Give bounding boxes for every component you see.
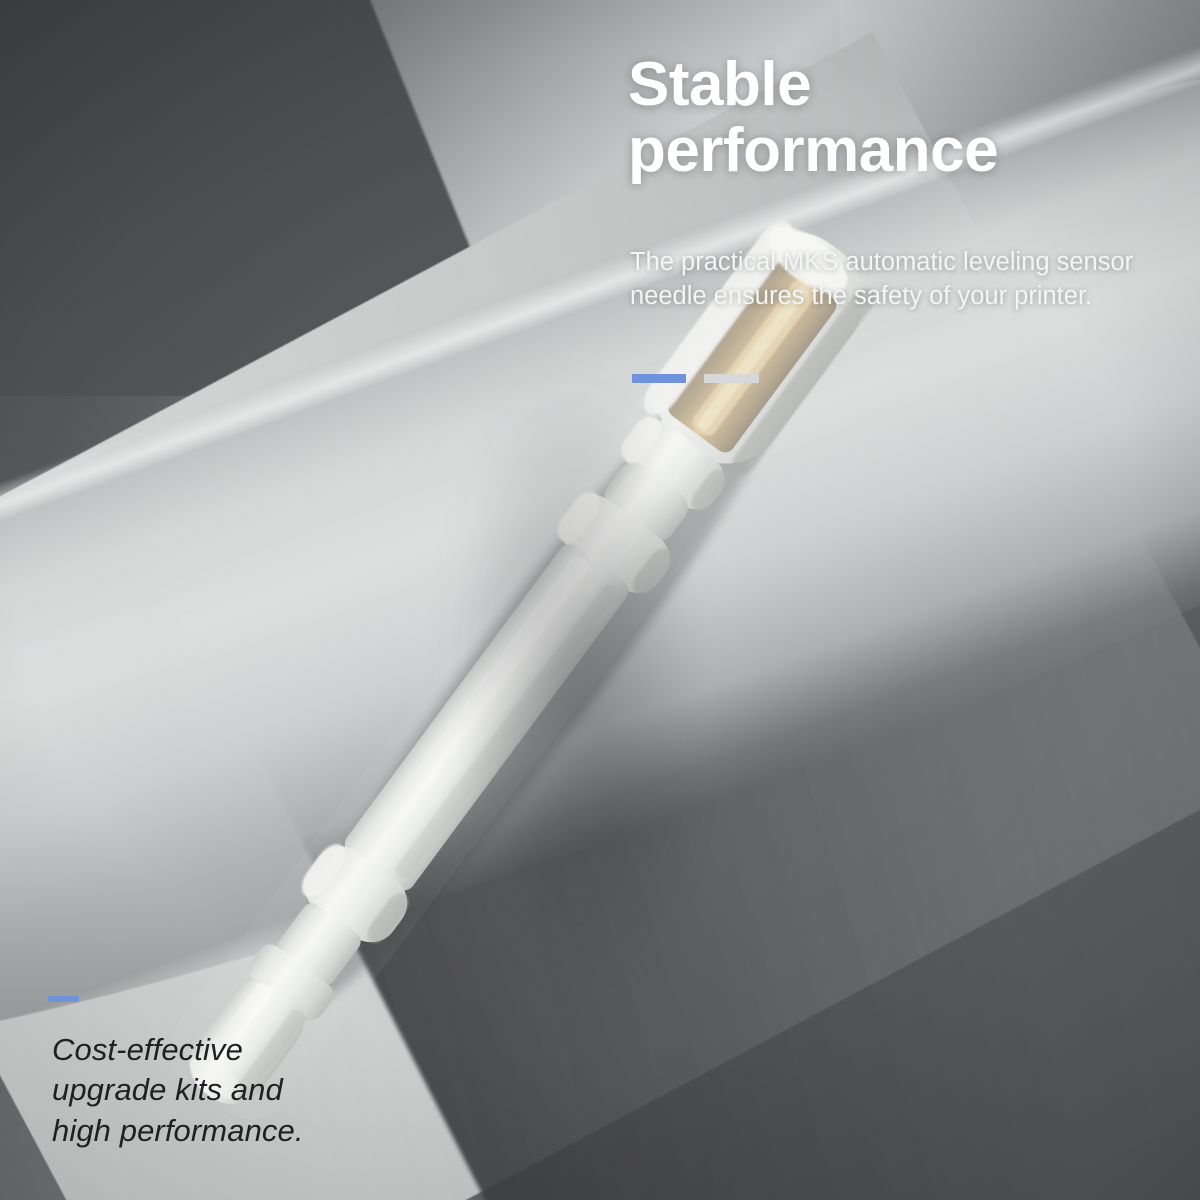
headline-line-2: performance <box>628 118 1168 184</box>
caption-line-1: Cost-effective <box>52 1030 382 1070</box>
product-banner: Stable performance The practical MKS aut… <box>0 0 1200 1200</box>
headline: Stable performance <box>628 52 1168 183</box>
caption-line-3: high performance. <box>52 1111 382 1151</box>
caption-accent-dash <box>48 996 79 1002</box>
accent-dashes <box>632 374 759 383</box>
caption-text: Cost-effective upgrade kits and high per… <box>52 1030 382 1151</box>
subcopy-text: The practical MKS automatic leveling sen… <box>630 246 1142 314</box>
caption-line-2: upgrade kits and <box>52 1070 382 1110</box>
accent-dash-blue <box>632 374 686 383</box>
accent-dash-gray <box>704 374 759 383</box>
headline-line-1: Stable <box>628 52 1168 118</box>
